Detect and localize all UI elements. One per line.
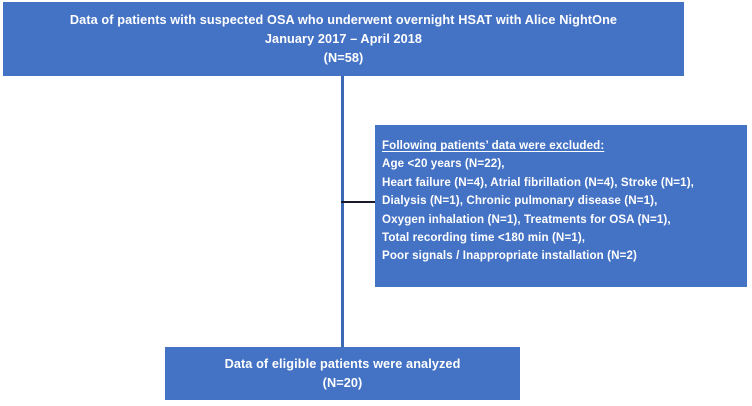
vertical-connector-line — [341, 76, 344, 347]
exclusion-line-4: Oxygen inhalation (N=1), Treatments for … — [382, 211, 671, 229]
enrollment-line-2: January 2017 – April 2018 — [265, 30, 422, 49]
analyzed-line-2: (N=20) — [323, 374, 363, 393]
enrollment-box: Data of patients with suspected OSA who … — [3, 2, 684, 76]
horizontal-connector-line — [341, 201, 376, 203]
exclusion-heading: Following patients’ data were excluded: — [382, 137, 604, 155]
exclusion-line-2: Heart failure (N=4), Atrial fibrillation… — [382, 174, 694, 192]
analyzed-line-1: Data of eligible patients were analyzed — [225, 355, 461, 374]
analyzed-box: Data of eligible patients were analyzed … — [165, 347, 520, 400]
exclusion-line-3: Dialysis (N=1), Chronic pulmonary diseas… — [382, 192, 657, 210]
flowchart-figure: Data of patients with suspected OSA who … — [0, 0, 752, 406]
exclusion-line-1: Age <20 years (N=22), — [382, 155, 505, 173]
exclusion-line-6: Poor signals / Inappropriate installatio… — [382, 247, 637, 265]
exclusion-box: Following patients’ data were excluded: … — [375, 125, 747, 287]
enrollment-line-3: (N=58) — [324, 49, 364, 68]
exclusion-line-5: Total recording time <180 min (N=1), — [382, 229, 585, 247]
enrollment-line-1: Data of patients with suspected OSA who … — [70, 11, 617, 30]
